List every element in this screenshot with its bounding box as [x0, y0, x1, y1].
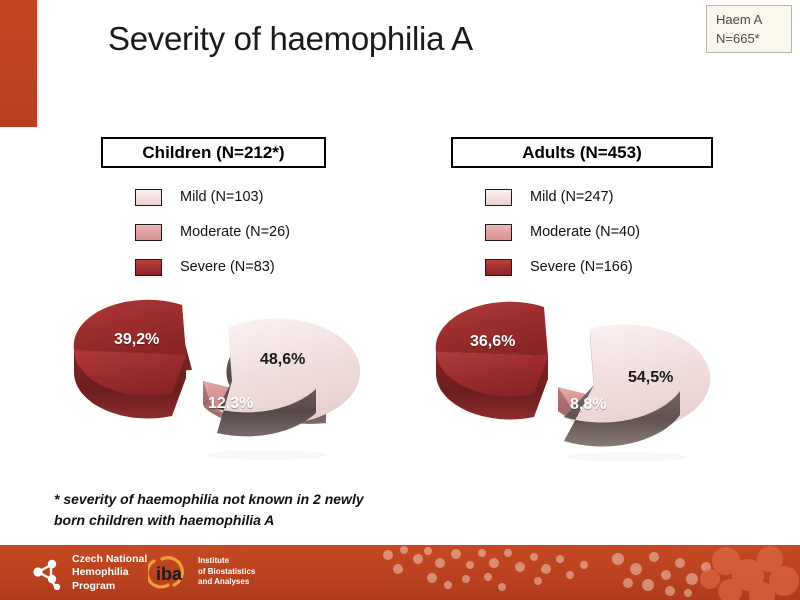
pie-chart-adults: 36,6% 8,8% 54,5%: [422, 295, 752, 470]
legend-swatch-moderate-icon: [485, 224, 512, 241]
chnp-line-1: Czech National: [72, 553, 147, 566]
accent-bar-left: [0, 0, 37, 127]
legend-label-severe: Severe (N=83): [180, 259, 275, 275]
pie-value-severe: 39,2%: [114, 331, 159, 349]
dataset-badge: Haem A N=665*: [706, 5, 792, 53]
footnote-line-1: * severity of haemophilia not known in 2…: [54, 489, 474, 510]
footnote-line-2: born children with haemophilia A: [54, 510, 474, 531]
footnote: * severity of haemophilia not known in 2…: [54, 489, 474, 531]
legend-label-severe: Severe (N=166): [530, 259, 633, 275]
iba-line-1: Institute: [198, 556, 255, 566]
molecule-icon: [33, 556, 65, 590]
legend-label-mild: Mild (N=103): [180, 189, 263, 205]
panel-children: Children (N=212*) Mild (N=103) Moderate …: [101, 137, 326, 291]
iba-wordmark: iba: [156, 564, 183, 584]
pie-slice-severe: [436, 302, 548, 420]
panel-header-adults: Adults (N=453): [451, 137, 713, 168]
legend-swatch-severe-icon: [485, 259, 512, 276]
slide-canvas: Severity of haemophilia A Haem A N=665* …: [0, 0, 800, 600]
legend-item-severe: Severe (N=83): [135, 256, 326, 278]
legend-label-mild: Mild (N=247): [530, 189, 613, 205]
pie-adults-svg: [422, 295, 752, 470]
accent-bar-edge: [37, 0, 39, 127]
pie-value-mild: 54,5%: [628, 369, 673, 387]
legend-children: Mild (N=103) Moderate (N=26) Severe (N=8…: [101, 186, 326, 278]
legend-item-moderate: Moderate (N=40): [485, 221, 713, 243]
legend-item-mild: Mild (N=247): [485, 186, 713, 208]
page-title: Severity of haemophilia A: [108, 20, 473, 58]
pie-value-mild: 48,6%: [260, 351, 305, 369]
legend-item-moderate: Moderate (N=26): [135, 221, 326, 243]
logo-czech-national-hemophilia-program: Czech National Hemophilia Program: [33, 553, 147, 593]
legend-swatch-severe-icon: [135, 259, 162, 276]
chnp-line-2: Hemophilia: [72, 566, 147, 579]
legend-swatch-moderate-icon: [135, 224, 162, 241]
panel-adults: Adults (N=453) Mild (N=247) Moderate (N=…: [451, 137, 713, 291]
legend-adults: Mild (N=247) Moderate (N=40) Severe (N=1…: [451, 186, 713, 278]
legend-swatch-mild-icon: [485, 189, 512, 206]
pie-value-moderate: 12,3%: [208, 395, 253, 413]
iba-line-3: and Analyses: [198, 577, 255, 587]
badge-line-1: Haem A: [716, 11, 791, 30]
legend-item-mild: Mild (N=103): [135, 186, 326, 208]
legend-label-moderate: Moderate (N=40): [530, 224, 640, 240]
panel-header-children: Children (N=212*): [101, 137, 326, 168]
pie-value-severe: 36,6%: [470, 333, 515, 351]
legend-label-moderate: Moderate (N=26): [180, 224, 290, 240]
chnp-line-3: Program: [72, 580, 147, 593]
legend-item-severe: Severe (N=166): [485, 256, 713, 278]
pie-value-moderate: 8,8%: [570, 396, 606, 414]
iba-line-2: of Biostatistics: [198, 567, 255, 577]
pie-chart-children: 39,2% 12,3% 48,6%: [62, 295, 392, 470]
footer-bar: Czech National Hemophilia Program iba In…: [0, 545, 800, 600]
pie-children-svg: [62, 295, 392, 470]
blood-cell-pattern-icon: [370, 545, 800, 600]
badge-line-2: N=665*: [716, 30, 791, 49]
legend-swatch-mild-icon: [135, 189, 162, 206]
iba-mark-icon: iba: [148, 555, 192, 589]
logo-iba: iba Institute of Biostatistics and Analy…: [148, 555, 255, 589]
